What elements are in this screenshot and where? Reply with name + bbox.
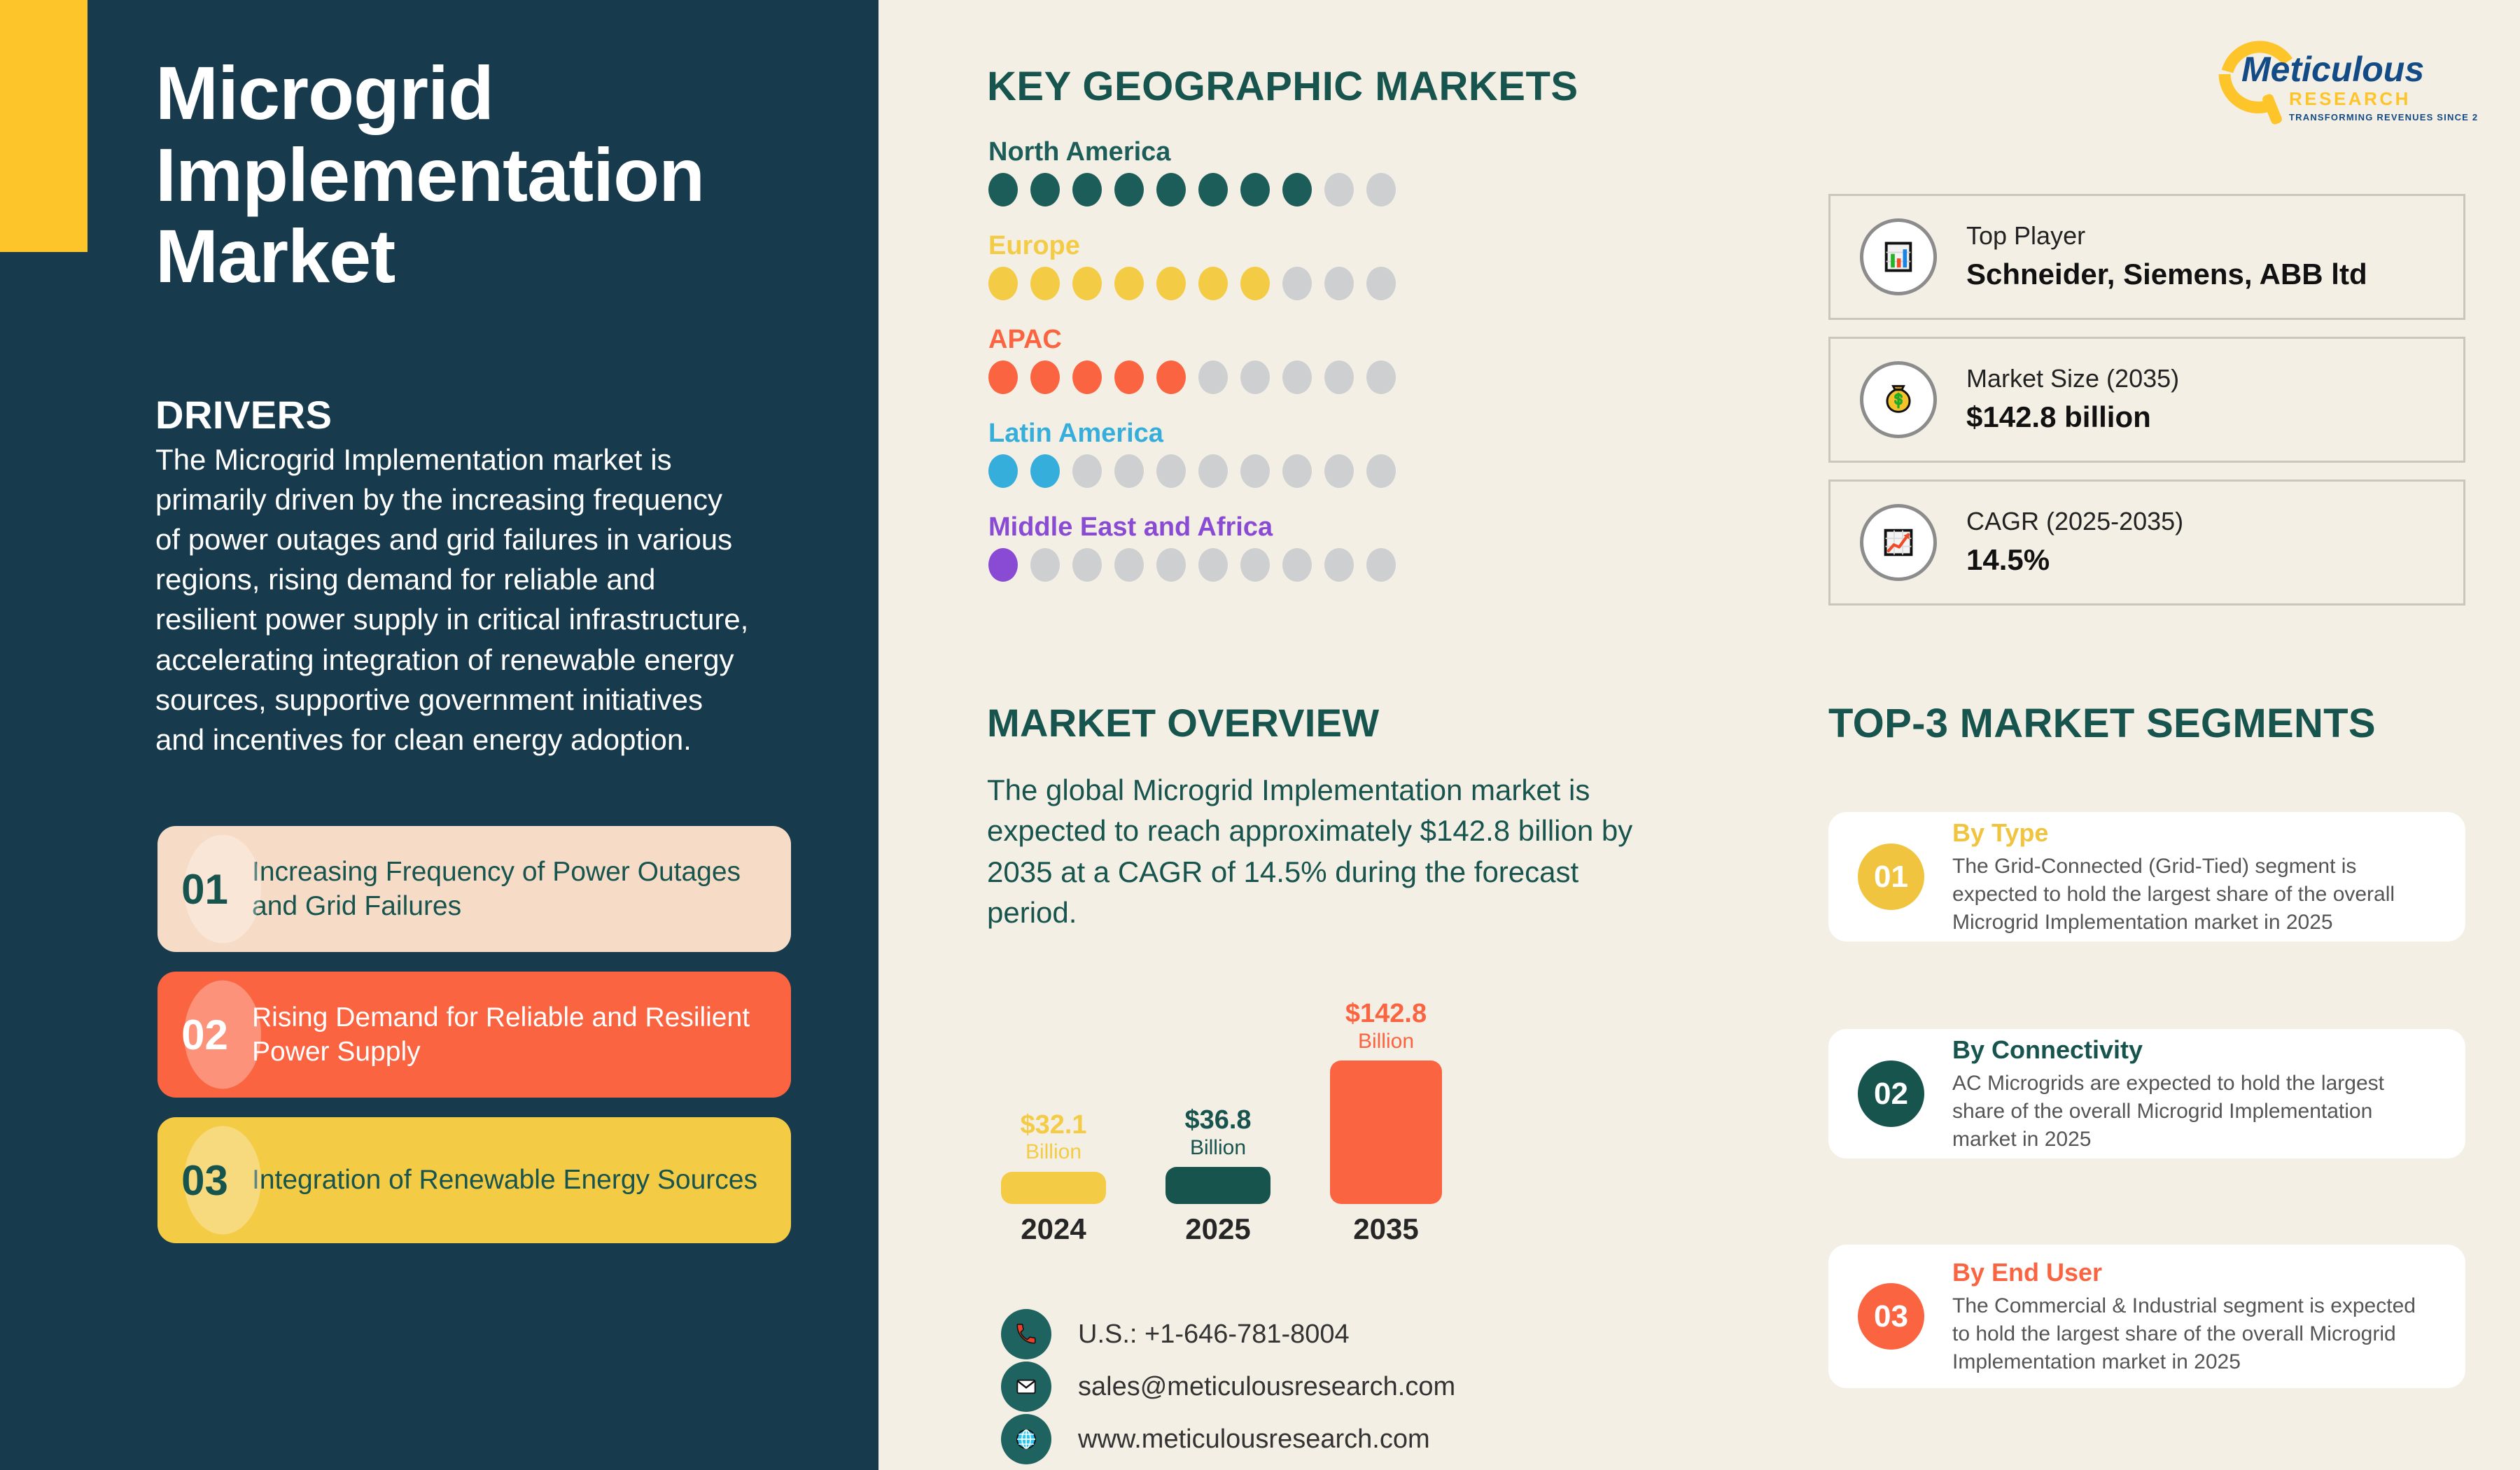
geo-dot-empty — [1324, 267, 1354, 300]
geo-dot-filled — [988, 267, 1018, 300]
bar-value-label: $32.1 — [1001, 1112, 1106, 1139]
geo-dot-filled — [1156, 173, 1186, 206]
left-panel: Microgrid Implementation Market DRIVERS … — [0, 0, 878, 1470]
geo-dot-empty — [1240, 454, 1270, 488]
segment-number-badge: 03 — [1858, 1283, 1924, 1350]
geo-dot-empty — [1030, 548, 1060, 582]
contact-phone-row[interactable]: U.S.: +1-646-781-8004 — [1001, 1309, 1350, 1359]
meticulous-research-logo: Meticulous RESEARCH TRANSFORMING REVENUE… — [2212, 35, 2478, 129]
geo-dot-filled — [1156, 360, 1186, 394]
geo-dot-empty — [1240, 360, 1270, 394]
bar-value-label: $142.8 — [1330, 1000, 1442, 1028]
geo-dot-filled — [1114, 173, 1144, 206]
geo-dot-empty — [1282, 454, 1312, 488]
stat-card-top-player: Top Player Schneider, Siemens, ABB ltd — [1828, 194, 2465, 320]
geo-dot-empty — [1324, 173, 1354, 206]
envelope-icon — [1001, 1361, 1051, 1412]
stat-text-group: CAGR (2025-2035) 14.5% — [1966, 505, 2183, 579]
bar-chart-icon — [1860, 218, 1937, 295]
geo-dot-empty — [1198, 454, 1228, 488]
geo-dot-empty — [1240, 548, 1270, 582]
geo-dot-scale — [988, 267, 1548, 300]
geo-region-label: Latin America — [988, 419, 1548, 449]
driver-label: Integration of Renewable Energy Sources — [252, 1163, 774, 1197]
segment-number-badge: 02 — [1858, 1060, 1924, 1127]
geo-dot-scale — [988, 360, 1548, 394]
driver-card-02[interactable]: 02 Rising Demand for Reliable and Resili… — [157, 972, 791, 1098]
stat-text-group: Top Player Schneider, Siemens, ABB ltd — [1966, 220, 2367, 293]
contact-website-row[interactable]: www.meticulousresearch.com — [1001, 1414, 1430, 1464]
geo-dot-empty — [1324, 454, 1354, 488]
geo-dot-empty — [1366, 360, 1396, 394]
phone-text: U.S.: +1-646-781-8004 — [1078, 1319, 1350, 1350]
market-overview-heading: MARKET OVERVIEW — [987, 700, 1379, 745]
geo-dot-empty — [1282, 548, 1312, 582]
bar-group-2035: $142.8Billion — [1330, 1000, 1442, 1204]
bar-year-label: 2035 — [1330, 1212, 1442, 1246]
bar-year-label: 2024 — [1001, 1212, 1106, 1246]
svg-text:RESEARCH: RESEARCH — [2289, 88, 2411, 109]
stat-card-cagr: CAGR (2025-2035) 14.5% — [1828, 479, 2465, 605]
segment-body: By End UserThe Commercial & Industrial s… — [1952, 1256, 2465, 1376]
geo-dot-filled — [1030, 173, 1060, 206]
driver-number: 01 — [157, 865, 252, 913]
stat-label: Top Player — [1966, 220, 2367, 253]
geo-dot-filled — [1072, 360, 1102, 394]
geo-region-label: Middle East and Africa — [988, 512, 1548, 542]
geo-dot-filled — [1198, 173, 1228, 206]
geo-dot-filled — [1240, 173, 1270, 206]
bar-rect — [1330, 1060, 1442, 1204]
geo-dot-filled — [1240, 267, 1270, 300]
geo-region-label: APAC — [988, 325, 1548, 355]
geo-dot-empty — [1072, 548, 1102, 582]
geo-dot-empty — [1072, 454, 1102, 488]
geo-dot-filled — [1156, 267, 1186, 300]
market-overview-text: The global Microgrid Implementation mark… — [987, 770, 1673, 934]
geo-row-middle-east-and-africa: Middle East and Africa — [988, 512, 1548, 582]
yellow-accent-bar — [0, 0, 87, 252]
driver-number: 02 — [157, 1011, 252, 1059]
driver-label: Increasing Frequency of Power Outages an… — [252, 855, 791, 923]
segments-heading: TOP-3 MARKET SEGMENTS — [1828, 700, 2376, 747]
geo-row-north-america: North America — [988, 137, 1548, 206]
bar-group-2025: $36.8Billion — [1165, 1107, 1270, 1204]
geo-dot-filled — [988, 173, 1018, 206]
geo-dot-filled — [1114, 267, 1144, 300]
stat-text-group: Market Size (2035) $142.8 billion — [1966, 363, 2179, 436]
geo-dot-empty — [1114, 454, 1144, 488]
geographic-markets-heading: KEY GEOGRAPHIC MARKETS — [987, 63, 1578, 110]
segment-title: By Connectivity — [1952, 1034, 2439, 1065]
geo-dot-filled — [1114, 360, 1144, 394]
bar-rect — [1165, 1167, 1270, 1204]
segment-number-badge: 01 — [1858, 843, 1924, 910]
geo-row-europe: Europe — [988, 231, 1548, 300]
segment-description: AC Microgrids are expected to hold the l… — [1952, 1070, 2439, 1154]
globe-icon — [1001, 1414, 1051, 1464]
geo-dot-scale — [988, 548, 1548, 582]
segment-card-02[interactable]: 02By ConnectivityAC Microgrids are expec… — [1828, 1029, 2465, 1158]
geo-dot-empty — [1366, 173, 1396, 206]
geo-dot-filled — [988, 548, 1018, 582]
driver-number: 03 — [157, 1156, 252, 1205]
geo-row-latin-america: Latin America — [988, 419, 1548, 488]
drivers-heading: DRIVERS — [155, 392, 332, 437]
segment-body: By ConnectivityAC Microgrids are expecte… — [1952, 1034, 2465, 1154]
stat-value: $142.8 billion — [1966, 398, 2179, 437]
geo-dot-scale — [988, 454, 1548, 488]
bar-value-label: $36.8 — [1165, 1107, 1270, 1134]
geo-region-label: North America — [988, 137, 1548, 167]
segment-title: By Type — [1952, 817, 2439, 848]
svg-text:TRANSFORMING REVENUES SINCE: TRANSFORMING REVENUES SINCE 2010 — [2289, 112, 2478, 122]
segment-body: By TypeThe Grid-Connected (Grid-Tied) se… — [1952, 817, 2465, 937]
driver-card-01[interactable]: 01 Increasing Frequency of Power Outages… — [157, 826, 791, 952]
geo-dot-filled — [1282, 173, 1312, 206]
stat-card-market-size: Market Size (2035) $142.8 billion — [1828, 337, 2465, 463]
segment-card-03[interactable]: 03By End UserThe Commercial & Industrial… — [1828, 1245, 2465, 1388]
geo-dot-empty — [1198, 548, 1228, 582]
geo-dot-filled — [988, 454, 1018, 488]
website-text: www.meticulousresearch.com — [1078, 1424, 1430, 1455]
market-size-bar-chart: $32.1Billion2024$36.8Billion2025$142.8Bi… — [987, 952, 1582, 1246]
geo-dot-filled — [1072, 173, 1102, 206]
geo-dot-empty — [1366, 454, 1396, 488]
geo-dot-empty — [1282, 267, 1312, 300]
stat-value: Schneider, Siemens, ABB ltd — [1966, 255, 2367, 294]
geo-region-label: Europe — [988, 231, 1548, 261]
stat-label: Market Size (2035) — [1966, 363, 2179, 395]
geo-dot-filled — [1030, 267, 1060, 300]
bar-unit-label: Billion — [1165, 1137, 1270, 1159]
geo-dot-empty — [1114, 548, 1144, 582]
segment-card-01[interactable]: 01By TypeThe Grid-Connected (Grid-Tied) … — [1828, 812, 2465, 941]
segment-description: The Grid-Connected (Grid-Tied) segment i… — [1952, 853, 2439, 937]
bar-unit-label: Billion — [1330, 1030, 1442, 1053]
geo-dot-empty — [1282, 360, 1312, 394]
geo-dot-empty — [1156, 454, 1186, 488]
segment-title: By End User — [1952, 1256, 2439, 1288]
contact-email-row[interactable]: sales@meticulousresearch.com — [1001, 1361, 1455, 1412]
phone-icon — [1001, 1309, 1051, 1359]
page-title: Microgrid Implementation Market — [155, 52, 827, 297]
driver-label: Rising Demand for Reliable and Resilient… — [252, 1000, 791, 1069]
geo-dot-filled — [1198, 267, 1228, 300]
segment-description: The Commercial & Industrial segment is e… — [1952, 1292, 2439, 1376]
geo-row-apac: APAC — [988, 325, 1548, 394]
geo-dot-empty — [1366, 548, 1396, 582]
geo-dot-empty — [1324, 360, 1354, 394]
drivers-body-text: The Microgrid Implementation market is p… — [155, 440, 750, 759]
geo-dot-filled — [988, 360, 1018, 394]
trend-chart-icon — [1860, 504, 1937, 581]
geo-dot-filled — [1030, 454, 1060, 488]
geo-dot-filled — [1030, 360, 1060, 394]
bar-group-2024: $32.1Billion — [1001, 1112, 1106, 1204]
geo-dot-empty — [1324, 548, 1354, 582]
stat-value: 14.5% — [1966, 541, 2183, 580]
geo-dot-empty — [1198, 360, 1228, 394]
stat-label: CAGR (2025-2035) — [1966, 505, 2183, 538]
driver-card-03[interactable]: 03 Integration of Renewable Energy Sourc… — [157, 1117, 791, 1243]
geo-dot-scale — [988, 173, 1548, 206]
bar-unit-label: Billion — [1001, 1141, 1106, 1163]
money-bag-icon — [1860, 361, 1937, 438]
geo-dot-empty — [1366, 267, 1396, 300]
svg-text:Meticulous: Meticulous — [2241, 50, 2424, 89]
email-text: sales@meticulousresearch.com — [1078, 1372, 1455, 1402]
geo-dot-empty — [1156, 548, 1186, 582]
bar-year-label: 2025 — [1165, 1212, 1270, 1246]
bar-rect — [1001, 1172, 1106, 1204]
geo-dot-filled — [1072, 267, 1102, 300]
